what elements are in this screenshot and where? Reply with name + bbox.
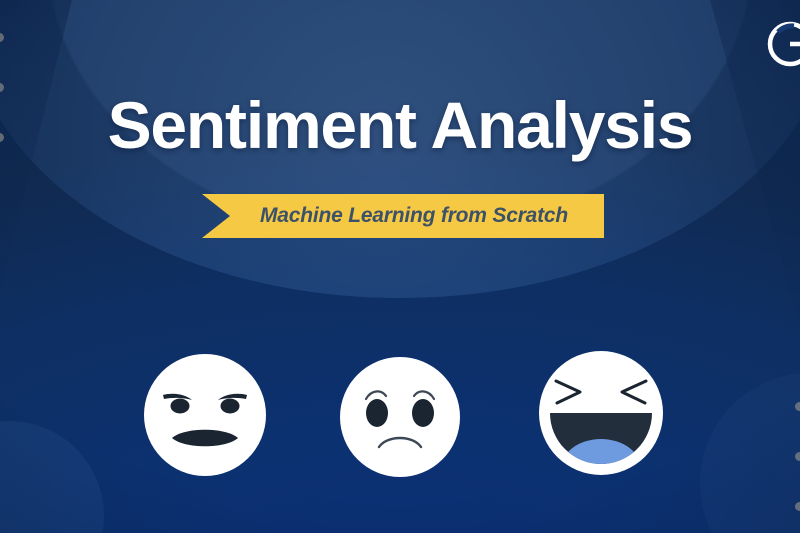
slide-canvas: Sentiment Analysis Machine Learning from… <box>0 0 800 533</box>
sad-face-icon <box>340 357 460 477</box>
laughing-face-icon <box>539 351 663 475</box>
sentiment-faces-row <box>0 0 800 533</box>
angry-face-icon <box>144 354 266 476</box>
